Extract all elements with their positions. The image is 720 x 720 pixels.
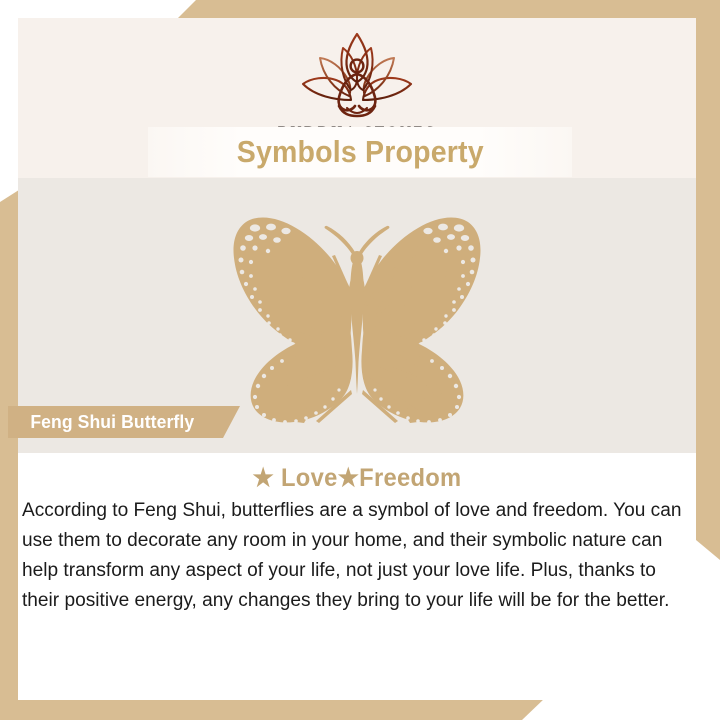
symbol-ribbon: Feng Shui Butterfly bbox=[8, 406, 240, 438]
description-section: ★ Love★Freedom According to Feng Shui, b… bbox=[18, 453, 696, 700]
frame-bottom-band bbox=[0, 698, 720, 720]
infographic-page: BUDDHA STONES Symbols Property bbox=[0, 0, 720, 720]
lotus-meditation-icon bbox=[281, 26, 433, 122]
symbol-ribbon-label: Feng Shui Butterfly bbox=[30, 411, 194, 433]
butterfly-icon bbox=[192, 190, 522, 440]
frame-right-band bbox=[696, 0, 720, 560]
brand-logo: BUDDHA STONES bbox=[18, 26, 696, 142]
frame-top-band bbox=[0, 0, 720, 20]
butterfly-image bbox=[192, 190, 522, 445]
page-title: Symbols Property bbox=[236, 134, 483, 170]
description-heading: ★ Love★Freedom bbox=[35, 453, 679, 493]
title-banner: Symbols Property bbox=[148, 127, 572, 177]
description-text: According to Feng Shui, butterflies are … bbox=[22, 495, 693, 615]
